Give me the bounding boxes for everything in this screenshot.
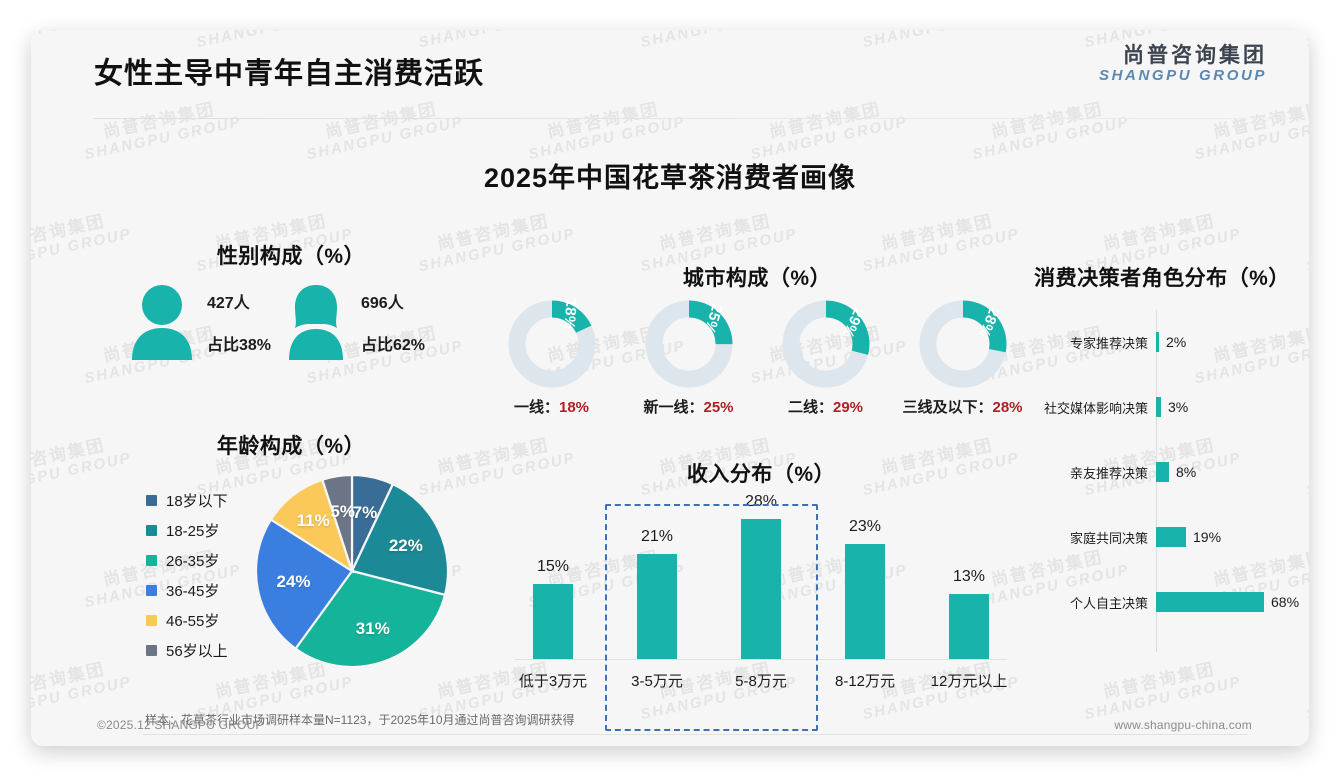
gender-male-text: 427人 占比38% [207, 289, 271, 355]
income-bar-column[interactable]: 23% [813, 499, 917, 659]
role-value: 19% [1193, 529, 1221, 545]
role-row[interactable]: 个人自主决策68% [1016, 590, 1308, 614]
gender-title: 性别构成（%） [101, 240, 481, 270]
age-legend: 18岁以下18-25岁26-35岁36-45岁46-55岁56岁以上 [146, 485, 228, 665]
gender-male-share: 占比38% [207, 331, 271, 355]
city-donut-chart: 25% [645, 300, 733, 388]
income-bar-value: 23% [849, 518, 881, 536]
donut-caption: 新一线：25% [643, 396, 733, 417]
gender-female-text: 696人 占比62% [361, 289, 425, 355]
income-bar[interactable] [949, 594, 989, 659]
chart-main-title: 2025年中国花草茶消费者画像 [31, 156, 1309, 195]
role-bar[interactable] [1156, 332, 1159, 352]
income-bar-column[interactable]: 15% [501, 499, 605, 659]
income-highlight-box [605, 504, 818, 731]
income-bar[interactable] [533, 584, 573, 659]
header: 女性主导中青年自主消费活跃 尚普咨询集团 SHANGPU GROUP [31, 30, 1309, 118]
infographic-page: 尚普咨询集团SHANGPU GROUP尚普咨询集团SHANGPU GROUP尚普… [0, 0, 1340, 780]
city-donut-chart: 18% [508, 300, 596, 388]
gender-item-female: 696人 占比62% [283, 284, 425, 360]
city-donut-row: 18%一线：18%25%新一线：25%29%二线：29%28%三线及以下：28% [483, 300, 1031, 417]
age-legend-label: 18-25岁 [166, 520, 219, 541]
city-donut-item[interactable]: 28%三线及以下：28% [894, 300, 1031, 417]
role-value: 3% [1168, 399, 1188, 415]
age-legend-item[interactable]: 56岁以上 [146, 635, 228, 665]
age-legend-item[interactable]: 26-35岁 [146, 545, 228, 575]
income-bar[interactable] [845, 544, 885, 659]
legend-swatch-icon [146, 555, 157, 566]
legend-swatch-icon [146, 585, 157, 596]
gender-item-male: 427人 占比38% [129, 284, 271, 360]
age-legend-item[interactable]: 18-25岁 [146, 515, 228, 545]
pie-slice-label: 5% [330, 502, 355, 522]
role-value: 8% [1176, 464, 1196, 480]
role-row[interactable]: 专家推荐决策2% [1016, 330, 1308, 354]
gender-male-count: 427人 [207, 289, 271, 313]
pie-slice-label: 11% [297, 511, 330, 531]
donut-caption: 二线：29% [788, 396, 863, 417]
age-legend-item[interactable]: 46-55岁 [146, 605, 228, 635]
role-label: 专家推荐决策 [1016, 333, 1148, 352]
city-donut-chart: 29% [782, 300, 870, 388]
role-bar[interactable] [1156, 462, 1169, 482]
pie-slice-label: 24% [277, 572, 311, 592]
age-legend-label: 26-35岁 [166, 550, 219, 571]
role-value: 68% [1271, 594, 1299, 610]
gender-female-share: 占比62% [361, 331, 425, 355]
footer-copyright: ©2025.12 SHANGPU GROUP [97, 718, 264, 732]
income-bar-value: 15% [537, 558, 569, 576]
donut-caption: 一线：18% [514, 396, 589, 417]
age-legend-item[interactable]: 36-45岁 [146, 575, 228, 605]
role-bar[interactable] [1156, 592, 1264, 612]
age-legend-label: 56岁以上 [166, 640, 228, 661]
age-title: 年龄构成（%） [101, 430, 481, 460]
age-legend-label: 18岁以下 [166, 490, 228, 511]
role-row[interactable]: 亲友推荐决策8% [1016, 460, 1308, 484]
legend-swatch-icon [146, 495, 157, 506]
city-donut-item[interactable]: 29%二线：29% [757, 300, 894, 417]
role-row[interactable]: 家庭共同决策19% [1016, 525, 1308, 549]
pie-slice-label: 22% [389, 536, 423, 556]
logo-english-text: SHANGPU GROUP [1099, 67, 1267, 85]
roles-section: 消费决策者角色分布（%） 专家推荐决策2%社交媒体影响决策3%亲友推荐决策8%家… [1016, 262, 1308, 672]
slide-card: 尚普咨询集团SHANGPU GROUP尚普咨询集团SHANGPU GROUP尚普… [31, 30, 1309, 746]
footer-website[interactable]: www.shangpu-china.com [1114, 718, 1252, 732]
roles-title: 消费决策者角色分布（%） [1016, 262, 1308, 292]
female-icon [283, 284, 349, 360]
page-title: 女性主导中青年自主消费活跃 [94, 50, 484, 92]
age-pie-chart: 7%22%31%24%11%5% [255, 474, 449, 668]
role-label: 亲友推荐决策 [1016, 463, 1148, 482]
legend-swatch-icon [146, 615, 157, 626]
pie-slice-label: 7% [353, 503, 378, 523]
gender-female-count: 696人 [361, 289, 425, 313]
income-bar-column[interactable]: 13% [917, 499, 1021, 659]
age-legend-label: 36-45岁 [166, 580, 219, 601]
role-label: 个人自主决策 [1016, 593, 1148, 612]
city-title: 城市构成（%） [483, 262, 1031, 292]
age-legend-label: 46-55岁 [166, 610, 219, 631]
role-label: 社交媒体影响决策 [1016, 398, 1148, 417]
role-bar[interactable] [1156, 527, 1186, 547]
company-logo: 尚普咨询集团 SHANGPU GROUP [1099, 44, 1267, 85]
page-footer: ©2025.12 SHANGPU GROUP www.shangpu-china… [0, 718, 1340, 748]
role-value: 2% [1166, 334, 1186, 350]
income-category-label: 12万元以上 [917, 670, 1021, 691]
city-section: 城市构成（%） 18%一线：18%25%新一线：25%29%二线：29%28%三… [483, 262, 1031, 412]
income-title: 收入分布（%） [501, 458, 1021, 488]
legend-swatch-icon [146, 525, 157, 536]
legend-swatch-icon [146, 645, 157, 656]
role-bar[interactable] [1156, 397, 1161, 417]
pie-slice-label: 31% [356, 619, 390, 639]
age-legend-item[interactable]: 18岁以下 [146, 485, 228, 515]
income-bar-value: 13% [953, 568, 985, 586]
donut-value-label: 18% [561, 298, 580, 330]
logo-chinese-text: 尚普咨询集团 [1099, 44, 1267, 67]
header-divider [94, 118, 1248, 119]
city-donut-chart: 28% [919, 300, 1007, 388]
city-donut-item[interactable]: 18%一线：18% [483, 300, 620, 417]
role-label: 家庭共同决策 [1016, 528, 1148, 547]
income-category-label: 8-12万元 [813, 670, 917, 691]
role-row[interactable]: 社交媒体影响决策3% [1016, 395, 1308, 419]
male-icon [129, 284, 195, 360]
age-section: 年龄构成（%） 18岁以下18-25岁26-35岁36-45岁46-55岁56岁… [101, 430, 501, 700]
income-category-label: 低于3万元 [501, 670, 605, 691]
income-section: 收入分布（%） 15%21%28%23%13% 低于3万元3-5万元5-8万元8… [501, 458, 1021, 698]
city-donut-item[interactable]: 25%新一线：25% [620, 300, 757, 417]
donut-caption: 三线及以下：28% [902, 396, 1022, 417]
gender-section: 性别构成（%） 427人 占比38% [101, 240, 481, 390]
